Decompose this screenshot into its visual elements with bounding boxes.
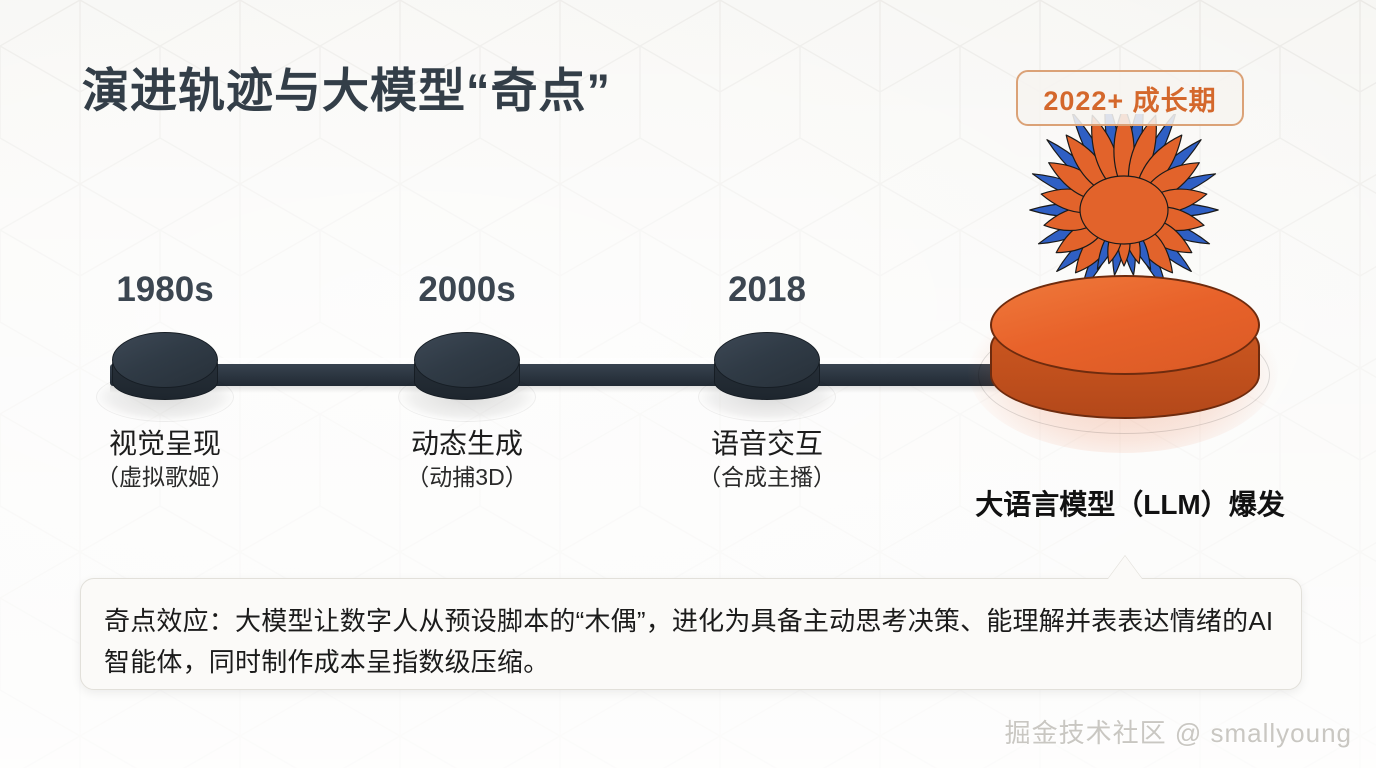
callout-text: 奇点效应：大模型让数字人从预设脚本的“木偶”，进化为具备主动思考决策、能理解并表… [104, 601, 1284, 683]
status-badge: 2022+ 成长期 [1016, 70, 1244, 126]
timeline-node-1-caption: 视觉呈现 （虚拟歌姬） [96, 428, 234, 493]
timeline-node-1-top [112, 332, 218, 388]
timeline-node-2-title: 动态生成 [406, 428, 527, 460]
timeline-node-3-subtitle: （合成主播） [698, 463, 836, 493]
llm-cylinder-top [990, 275, 1260, 375]
slide-canvas: 演进轨迹与大模型“奇点” 2022+ 成长期 1980s 视觉呈现 （虚拟歌姬）… [0, 0, 1376, 768]
timeline-node-1[interactable]: 1980s 视觉呈现 （虚拟歌姬） [112, 332, 218, 402]
timeline-node-2-caption: 动态生成 （动捕3D） [406, 428, 527, 493]
llm-label: 大语言模型（LLM）爆发 [955, 483, 1305, 523]
watermark: 掘金技术社区 @ smallyoung [1005, 713, 1352, 750]
timeline-node-2-year: 2000s [418, 270, 515, 310]
timeline-node-3-year: 2018 [728, 270, 806, 310]
timeline-node-3[interactable]: 2018 语音交互 （合成主播） [714, 332, 820, 402]
timeline-node-3-top [714, 332, 820, 388]
timeline-node-1-subtitle: （虚拟歌姬） [96, 463, 234, 493]
timeline-node-2-top [414, 332, 520, 388]
callout-pointer [1108, 556, 1142, 579]
page-title: 演进轨迹与大模型“奇点” [82, 52, 611, 121]
status-badge-label: 2022+ 成长期 [1043, 79, 1216, 118]
timeline-node-1-title: 视觉呈现 [96, 428, 234, 460]
timeline-node-3-caption: 语音交互 （合成主播） [698, 428, 836, 493]
llm-milestone[interactable] [960, 118, 1290, 448]
timeline-node-1-year: 1980s [116, 270, 213, 310]
timeline-node-3-title: 语音交互 [698, 428, 836, 460]
timeline-node-2-subtitle: （动捕3D） [406, 463, 527, 493]
timeline-node-2[interactable]: 2000s 动态生成 （动捕3D） [414, 332, 520, 402]
